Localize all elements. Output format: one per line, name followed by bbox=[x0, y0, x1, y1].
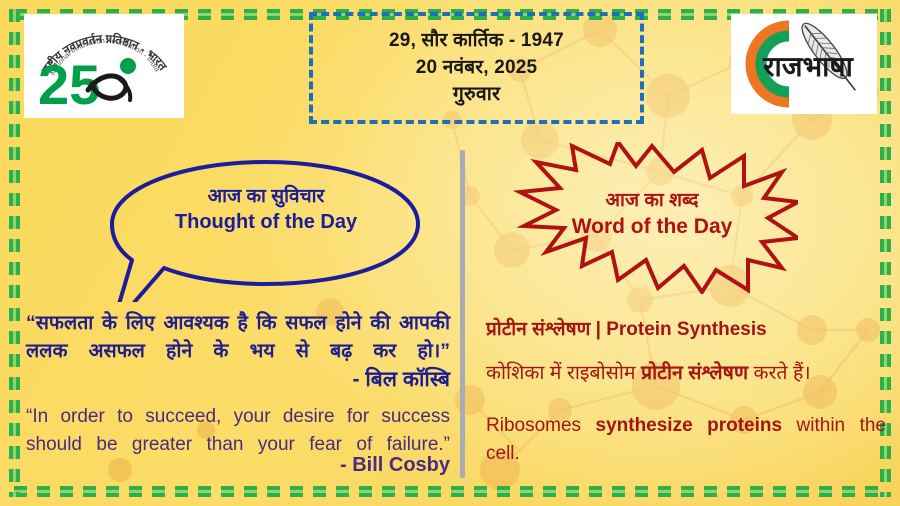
word-title-english: Protein Synthesis bbox=[606, 319, 767, 340]
date-gregorian: 20 नवंबर, 2025 bbox=[416, 56, 538, 80]
quote-english-text: “In order to succeed, your desire for su… bbox=[26, 403, 450, 458]
word-sentence-english-before: Ribosomes bbox=[486, 415, 596, 436]
national-innovation-foundation-logo: राष्ट्रीय नवप्रवर्तन प्रतिष्ठान - भारत N… bbox=[24, 14, 184, 118]
rajbhasha-logo: राजभाषा bbox=[731, 14, 877, 114]
speech-bubble-shape bbox=[106, 156, 426, 302]
date-hindi-calendar: 29, सौर कार्तिक - 1947 bbox=[389, 29, 564, 53]
word-title-separator: | bbox=[590, 319, 606, 340]
word-sentence-hindi-after: करते हैं। bbox=[748, 362, 811, 384]
quote-hindi-text: “सफलता के लिए आवश्यक है कि सफल होने की आ… bbox=[26, 310, 450, 365]
poster-canvas: राष्ट्रीय नवप्रवर्तन प्रतिष्ठान - भारत N… bbox=[0, 0, 900, 506]
word-title: प्रोटीन संश्लेषण | Protein Synthesis bbox=[486, 318, 886, 343]
thought-of-the-day-panel: आज का सुविचार Thought of the Day “सफलता … bbox=[0, 128, 460, 488]
word-of-the-day-panel: आज का शब्द Word of the Day प्रोटीन संश्ल… bbox=[462, 128, 900, 488]
date-weekday: गुरुवार bbox=[453, 82, 500, 107]
word-sentence-english: Ribosomes synthesize proteins within the… bbox=[486, 412, 886, 467]
starburst-shape bbox=[506, 142, 798, 294]
rajbhasha-logo-text: राजभाषा bbox=[762, 51, 855, 82]
word-sentence-hindi: कोशिका में राइबोसोम प्रोटीन संश्लेषण करत… bbox=[486, 360, 892, 386]
date-box: 29, सौर कार्तिक - 1947 20 नवंबर, 2025 गु… bbox=[309, 12, 644, 124]
word-title-hindi: प्रोटीन संश्लेषण bbox=[486, 319, 590, 340]
quote-hindi-author: - बिल कॉस्बि bbox=[26, 365, 450, 393]
quote-english-author: - Bill Cosby bbox=[26, 454, 450, 477]
word-sentence-english-bold: synthesize proteins bbox=[596, 415, 783, 436]
word-sentence-hindi-bold: प्रोटीन संश्लेषण bbox=[641, 362, 748, 384]
word-sentence-hindi-before: कोशिका में राइबोसोम bbox=[486, 362, 641, 384]
